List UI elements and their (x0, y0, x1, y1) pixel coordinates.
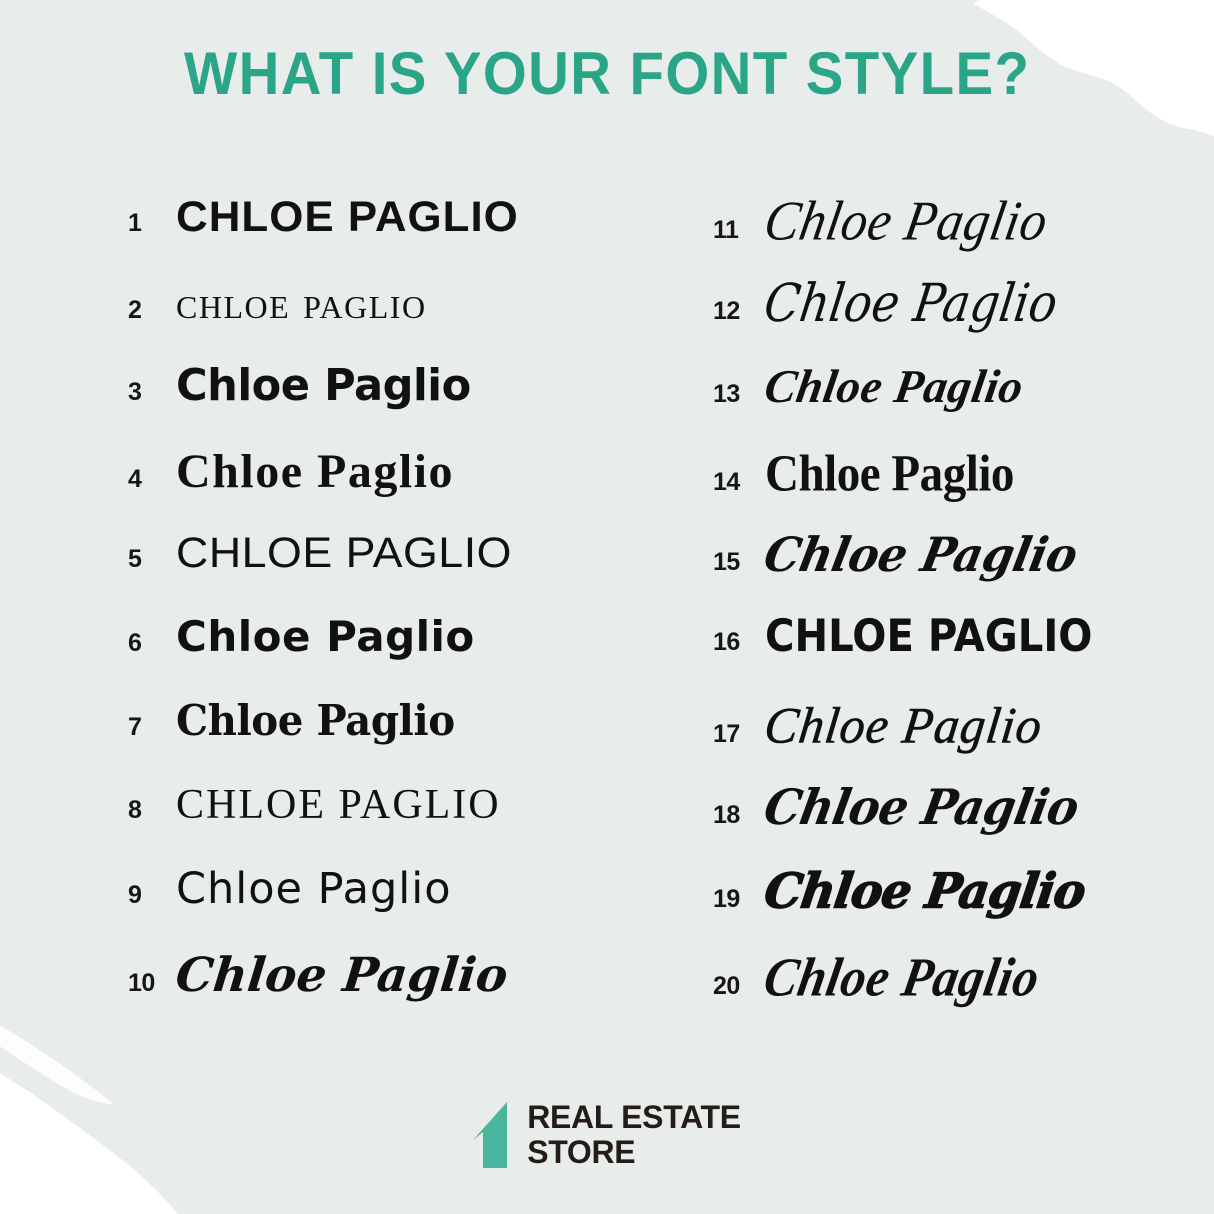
font-sample-heavy-rounded-geometric-sans[interactable]: Chloe Paglio (176, 364, 629, 408)
font-sample-number: 16 (713, 630, 765, 655)
font-sample-text: CHLOE PAGLIO (176, 532, 512, 575)
font-sample-text: Chloe Paglio (762, 700, 1046, 751)
font-sample-row[interactable]: 15Chloe Paglio (713, 532, 1214, 616)
font-sample-number: 8 (128, 798, 176, 823)
font-sample-number: 15 (713, 550, 765, 575)
font-sample-text: Chloe Paglio (176, 280, 427, 326)
font-sample-text: CHLOE PAGLIO (176, 196, 519, 239)
font-sample-bold-slab-serif[interactable]: Chloe Paglio (176, 700, 629, 742)
font-sample-high-contrast-didone-serif[interactable]: Chloe Paglio (765, 448, 1214, 498)
font-sample-number: 20 (713, 974, 765, 999)
font-sample-hand-lettered-marker-caps[interactable]: CHLOE PAGLIO (765, 616, 1214, 657)
font-sample-text: Chloe Paglio (761, 364, 1026, 411)
font-sample-number: 6 (128, 631, 176, 656)
brand-logo-line-2: STORE (527, 1136, 741, 1168)
font-sample-row[interactable]: 9Chloe Paglio (128, 868, 629, 952)
font-sample-thin-geometric-sans[interactable]: Chloe Paglio (176, 868, 629, 911)
font-sample-calligraphic-script[interactable]: Chloe Paglio (765, 280, 1214, 326)
font-sample-number: 5 (128, 547, 176, 572)
font-sample-elegant-calligraphy-script[interactable]: Chloe Paglio (765, 952, 1214, 1002)
house-arrow-mark-icon (473, 1102, 515, 1168)
font-sample-number: 4 (128, 467, 176, 492)
brand-logo-line-1: REAL ESTATE (527, 1101, 741, 1133)
font-sample-row[interactable]: 3Chloe Paglio (128, 364, 629, 448)
font-sample-text: Chloe Paglio (176, 364, 471, 408)
brand-logo-text: REAL ESTATE STORE (527, 1101, 741, 1168)
font-sample-text: CHLOE PAGLIO (176, 784, 501, 826)
font-sample-number: 14 (713, 470, 765, 495)
font-sample-row[interactable]: 20Chloe Paglio (713, 952, 1214, 1036)
font-sample-row[interactable]: 13Chloe Paglio (713, 364, 1214, 448)
font-sample-bold-brush-script-alt[interactable]: Chloe Paglio (765, 784, 1214, 830)
font-sample-text: Chloe Paglio (760, 194, 1052, 250)
font-sample-row[interactable]: 10Chloe Paglio (128, 952, 629, 1036)
font-sample-number: 12 (713, 299, 765, 324)
font-sample-row[interactable]: 7Chloe Paglio (128, 700, 629, 784)
font-sample-text: Chloe Paglio (760, 531, 1081, 578)
font-sample-text: Chloe Paglio (765, 447, 1014, 499)
font-sample-text: CHLOE PAGLIO (765, 614, 1092, 658)
font-sample-row[interactable]: 14Chloe Paglio (713, 448, 1214, 532)
font-sample-number: 17 (713, 722, 765, 747)
font-sample-row[interactable]: 16CHLOE PAGLIO (713, 616, 1214, 700)
font-sample-text: Chloe Paglio (174, 952, 510, 999)
font-sample-text: Chloe Paglio (176, 700, 455, 742)
font-sample-number: 13 (713, 382, 765, 407)
font-sample-row[interactable]: 17Chloe Paglio (713, 700, 1214, 784)
font-sample-row[interactable]: 6Chloe Paglio (128, 616, 629, 700)
brand-logo: REAL ESTATE STORE (0, 1101, 1214, 1168)
font-sample-row[interactable]: 8CHLOE PAGLIO (128, 784, 629, 868)
font-sample-row[interactable]: 19Chloe Paglio (713, 868, 1214, 952)
font-sample-number: 7 (128, 715, 176, 740)
font-sample-row[interactable]: 1CHLOE PAGLIO (128, 196, 629, 280)
font-sample-columns: 1CHLOE PAGLIO2Chloe Paglio3Chloe Paglio4… (0, 196, 1214, 1036)
font-sample-bold-brush-script[interactable]: Chloe Paglio (176, 952, 629, 999)
font-sample-light-grotesque-caps[interactable]: CHLOE PAGLIO (176, 532, 629, 575)
font-sample-row[interactable]: 11Chloe Paglio (713, 196, 1214, 280)
font-sample-retro-monoline-script[interactable]: Chloe Paglio (765, 700, 1214, 750)
font-sample-text: Chloe Paglio (761, 783, 1082, 832)
font-sample-bold-geometric-sans-caps[interactable]: CHLOE PAGLIO (176, 196, 629, 239)
poster-canvas: WHAT IS YOUR FONT STYLE? 1CHLOE PAGLIO2C… (0, 0, 1214, 1214)
font-sample-column-left: 1CHLOE PAGLIO2Chloe Paglio3Chloe Paglio4… (0, 196, 629, 1036)
page-title-container: WHAT IS YOUR FONT STYLE? (0, 44, 1214, 104)
font-sample-text: Chloe Paglio (176, 616, 475, 658)
font-sample-number: 11 (713, 218, 765, 243)
font-sample-row[interactable]: 2Chloe Paglio (128, 280, 629, 364)
font-sample-heavy-bold-script[interactable]: Chloe Paglio (765, 868, 1214, 915)
font-sample-text: Chloe Paglio (761, 277, 1060, 329)
font-sample-row[interactable]: 4Chloe Paglio (128, 448, 629, 532)
brand-logo-inner: REAL ESTATE STORE (473, 1101, 741, 1168)
page-title: WHAT IS YOUR FONT STYLE? (184, 44, 1030, 104)
font-sample-text: Chloe Paglio (760, 950, 1044, 1005)
font-sample-text: Chloe Paglio (176, 448, 454, 496)
font-sample-number: 10 (128, 971, 176, 996)
font-sample-row[interactable]: 12Chloe Paglio (713, 280, 1214, 364)
font-sample-bouncy-brush-script[interactable]: Chloe Paglio (765, 532, 1214, 577)
font-sample-row[interactable]: 5CHLOE PAGLIO (128, 532, 629, 616)
font-sample-text: Chloe Paglio (176, 868, 452, 911)
font-sample-bold-rounded-sans[interactable]: Chloe Paglio (176, 616, 629, 658)
font-sample-number: 9 (128, 883, 176, 908)
font-sample-serif-small-caps[interactable]: Chloe Paglio (176, 280, 629, 326)
font-sample-number: 19 (713, 887, 765, 912)
font-sample-thin-signature-script[interactable]: Chloe Paglio (765, 196, 1214, 248)
font-sample-column-right: 11Chloe Paglio12Chloe Paglio13Chloe Pagl… (629, 196, 1214, 1036)
font-sample-row[interactable]: 18Chloe Paglio (713, 784, 1214, 868)
font-sample-number: 1 (128, 211, 176, 236)
font-sample-number: 3 (128, 380, 176, 405)
font-sample-formal-engraved-script[interactable]: Chloe Paglio (765, 364, 1214, 411)
font-sample-classic-serif-caps[interactable]: CHLOE PAGLIO (176, 784, 629, 826)
font-sample-number: 2 (128, 298, 176, 323)
font-sample-text: Chloe Paglio (762, 868, 1088, 916)
font-sample-bold-transitional-serif[interactable]: Chloe Paglio (176, 448, 629, 496)
font-sample-number: 18 (713, 803, 765, 828)
